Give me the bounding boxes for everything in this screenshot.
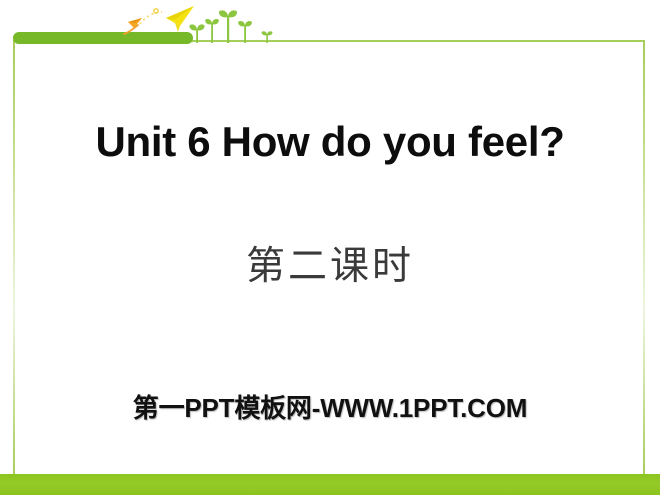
watermark-text: 第一PPT模板网-WWW.1PPT.COM [0,388,660,425]
paper-plane-icon [122,4,198,40]
bottom-green-bar [0,474,660,495]
sprout-row [188,8,280,45]
page-subtitle-chinese: 第二课时 [0,235,660,291]
slide-canvas: Unit 6 How do you feel? 第二课时 第一PPT模板网-WW… [0,0,660,495]
page-title-english: Unit 6 How do you feel? [0,118,660,166]
